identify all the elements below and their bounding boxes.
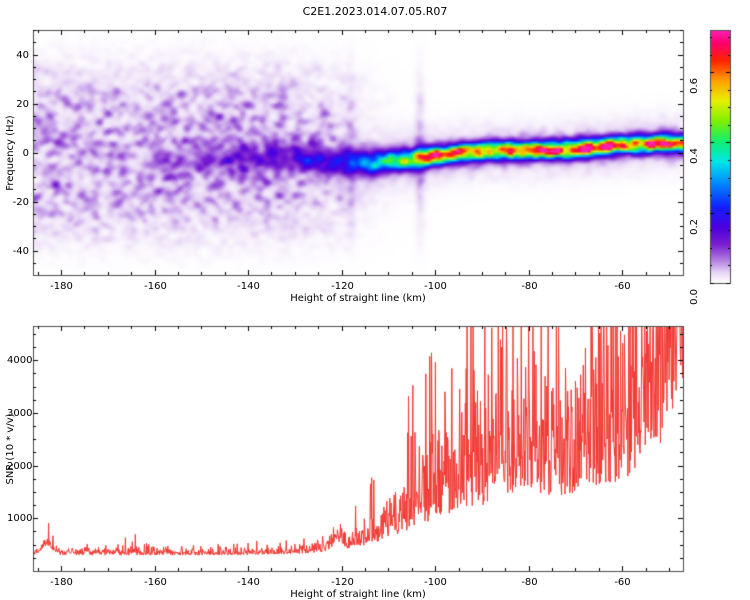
figure-root: C2E1.2023.014.07.05.R07 -180-160-140-120… (0, 0, 750, 600)
plot-canvas (0, 0, 750, 600)
